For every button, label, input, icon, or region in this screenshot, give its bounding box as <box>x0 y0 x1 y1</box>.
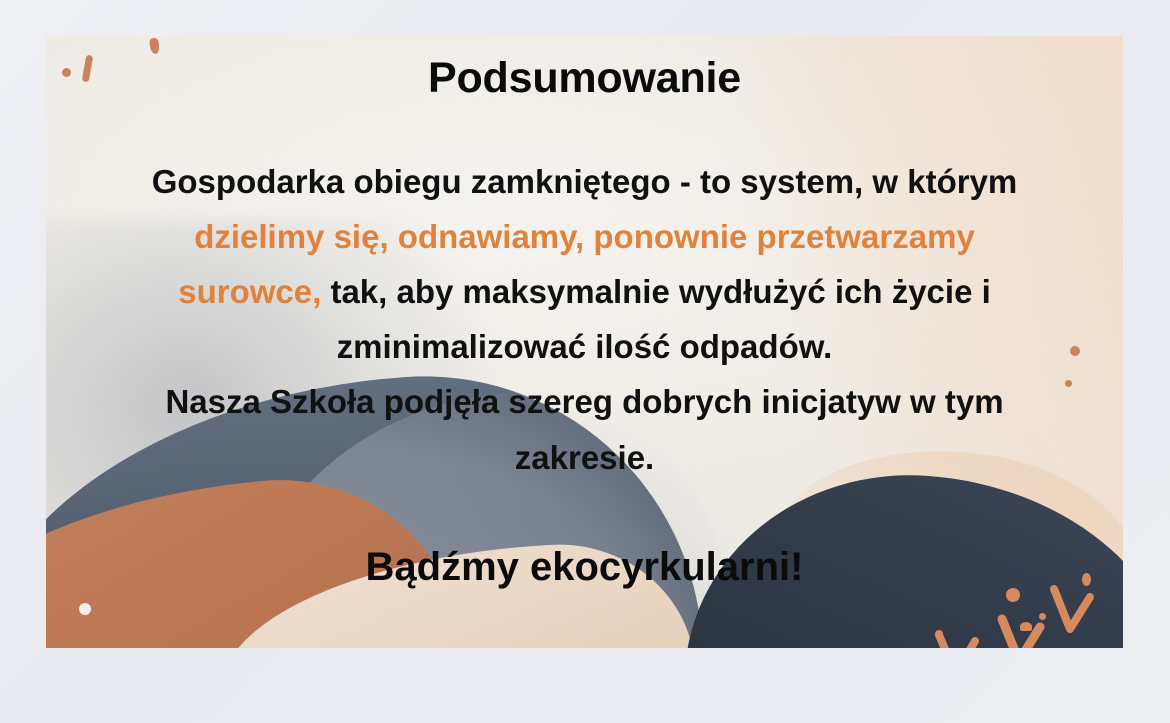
text-segment: Nasza Szkoła podjęła szereg dobrych inic… <box>165 383 1003 420</box>
text-segment-highlight: dzielimy się, odnawiamy, ponownie przetw… <box>194 218 975 255</box>
presentation-slide: Podsumowanie Gospodarka obiegu zamknięte… <box>46 36 1123 648</box>
paragraph-line: zminimalizować ilość odpadów. <box>46 319 1123 374</box>
paragraph-line: surowce, tak, aby maksymalnie wydłużyć i… <box>46 264 1123 319</box>
text-segment: tak, aby maksymalnie wydłużyć ich życie … <box>321 273 991 310</box>
page-canvas: Podsumowanie Gospodarka obiegu zamknięte… <box>0 0 1170 723</box>
slide-content: Podsumowanie Gospodarka obiegu zamknięte… <box>46 36 1123 648</box>
paragraph-line: Nasza Szkoła podjęła szereg dobrych inic… <box>46 374 1123 429</box>
text-segment: zminimalizować ilość odpadów. <box>337 328 833 365</box>
closing-statement: Bądźmy ekocyrkularni! <box>46 545 1123 590</box>
paragraph-line: Gospodarka obiegu zamkniętego - to syste… <box>46 154 1123 209</box>
text-segment-highlight: surowce, <box>178 273 321 310</box>
paragraph-line: zakresie. <box>46 430 1123 485</box>
text-segment: zakresie. <box>515 439 654 476</box>
text-segment: Gospodarka obiegu zamkniętego - to syste… <box>152 163 1018 200</box>
page-title: Podsumowanie <box>46 54 1123 103</box>
paragraph-line: dzielimy się, odnawiamy, ponownie przetw… <box>46 209 1123 264</box>
slide-body-paragraph: Gospodarka obiegu zamkniętego - to syste… <box>46 154 1123 485</box>
